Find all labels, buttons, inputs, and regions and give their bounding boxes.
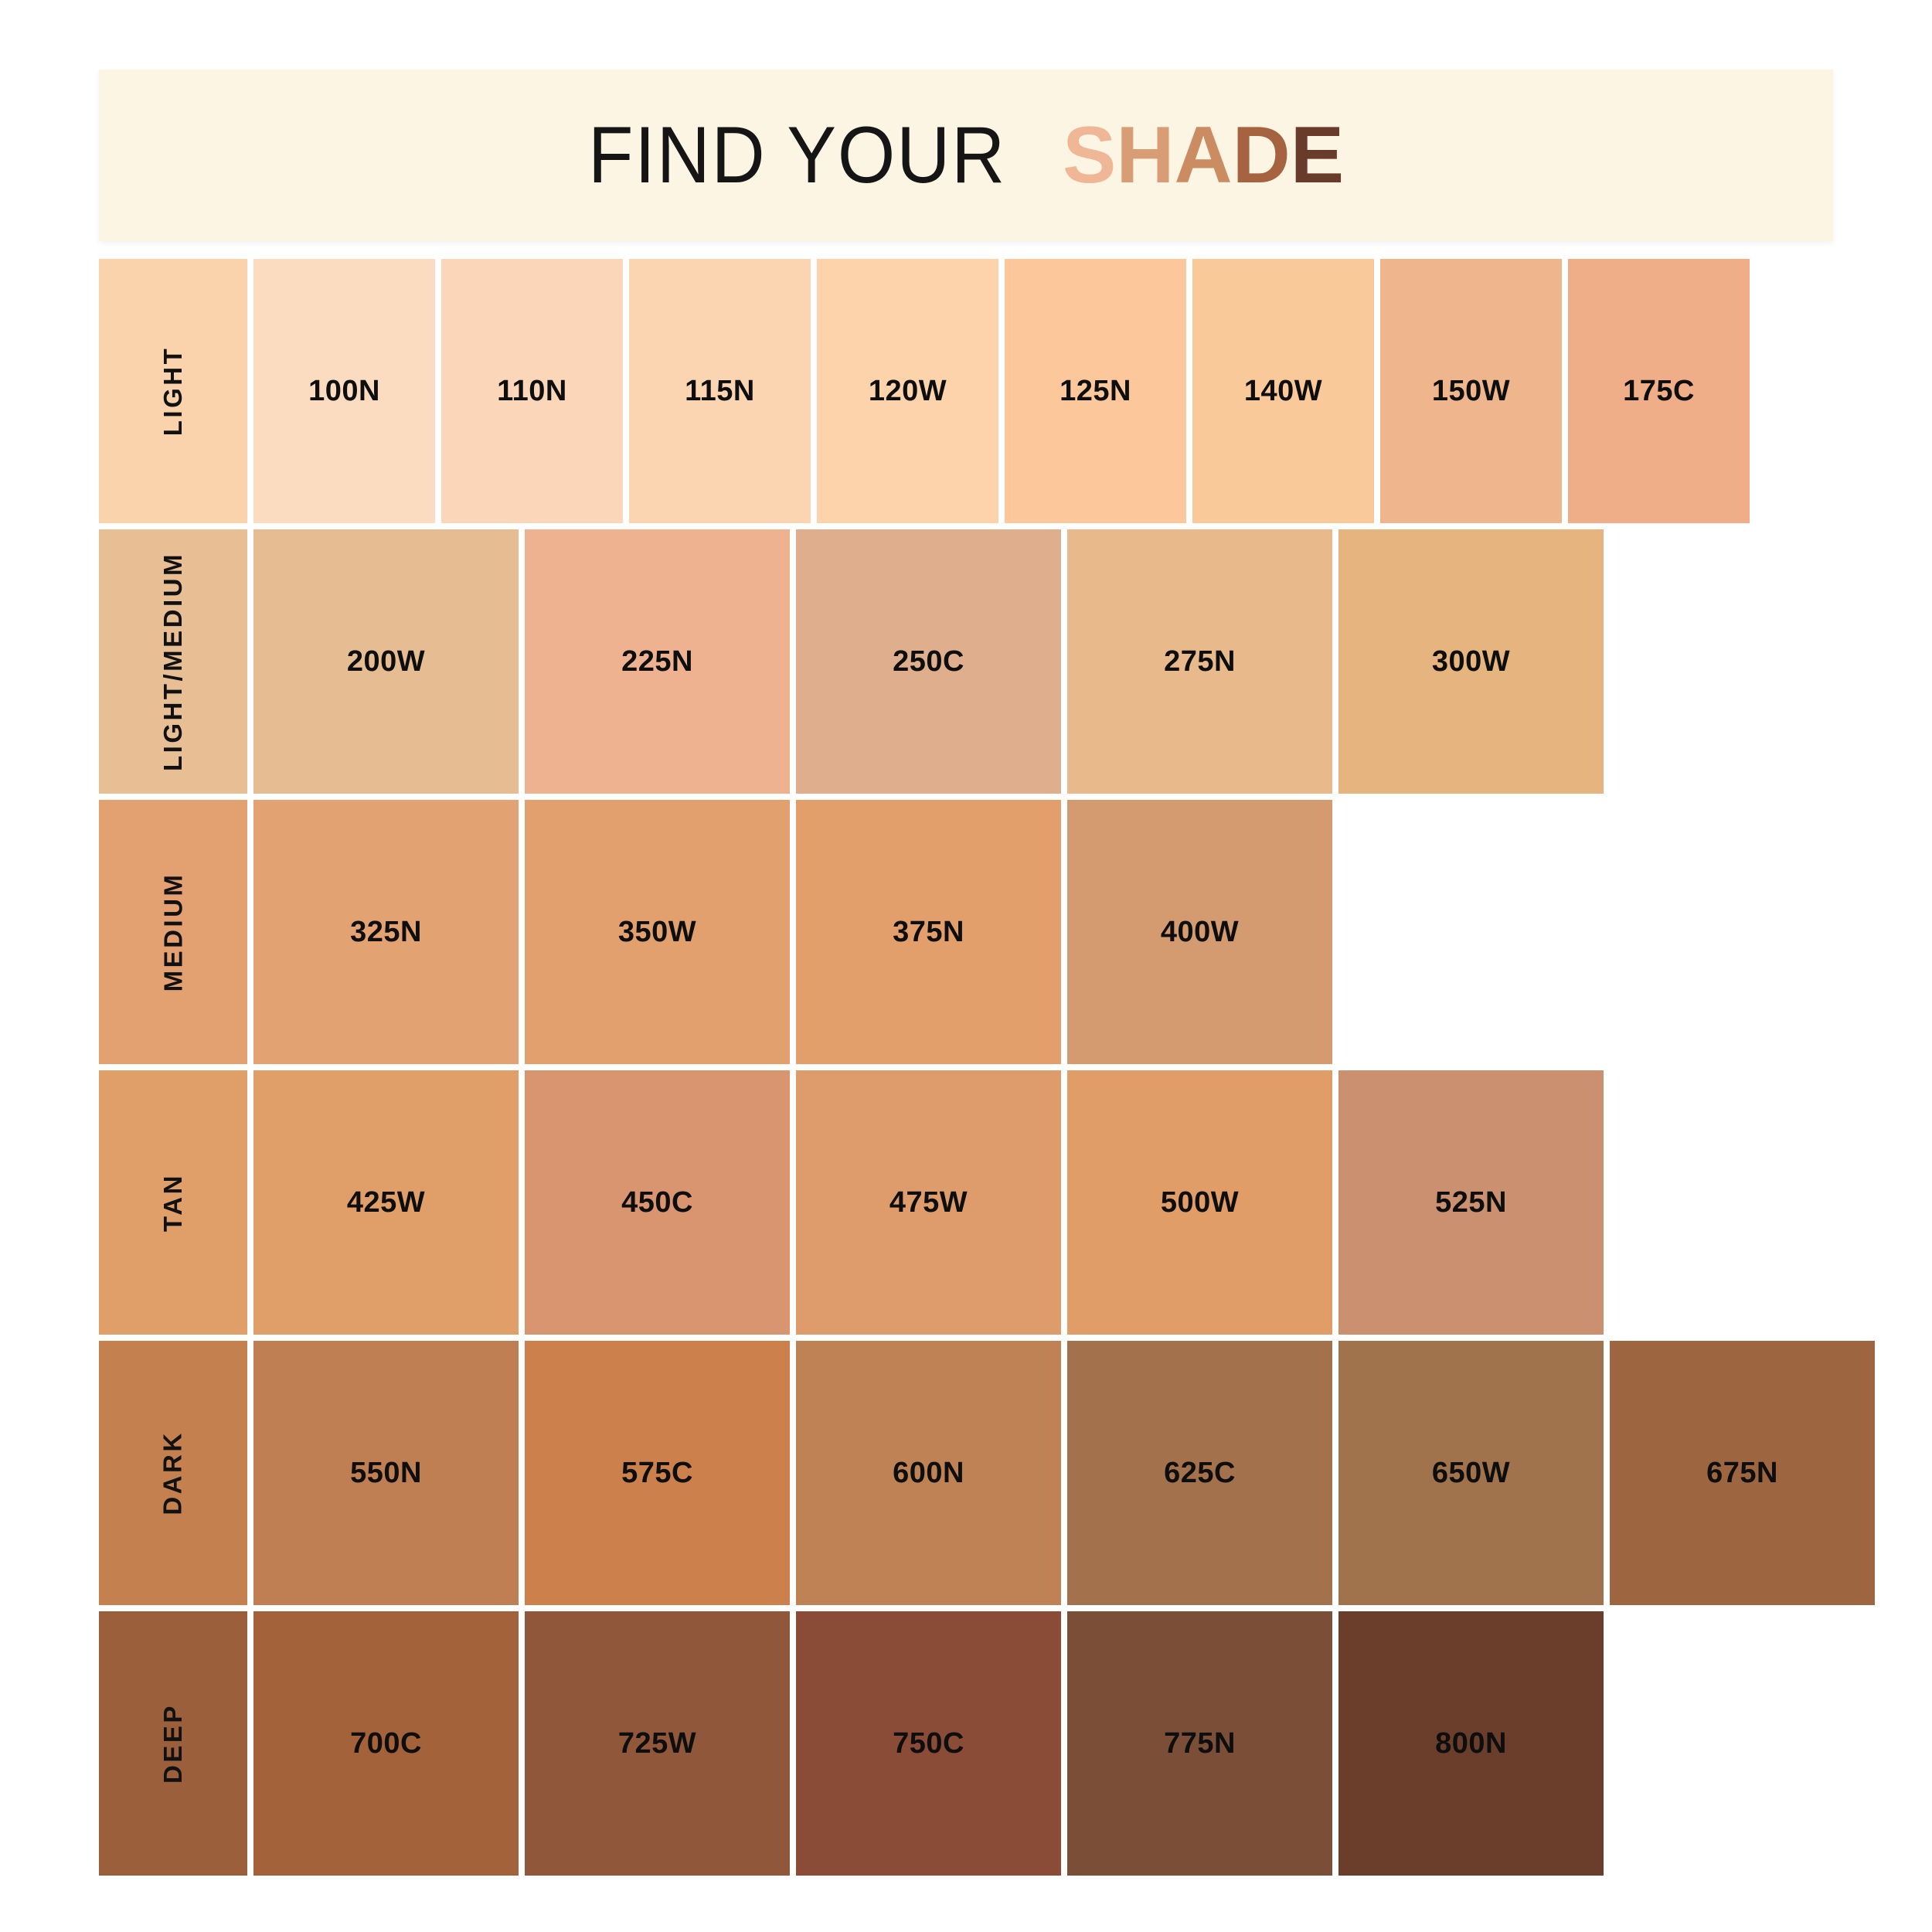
shade-code-label: 150W	[1432, 375, 1510, 408]
shade-swatch-500w[interactable]: 500W	[1067, 1070, 1332, 1335]
shade-swatch-115n[interactable]: 115N	[629, 259, 811, 523]
shade-row-deep: DEEP700C725W750C775N800N	[99, 1611, 1875, 1876]
shade-code-label: 775N	[1164, 1727, 1236, 1760]
shade-swatch-450c[interactable]: 450C	[525, 1070, 790, 1335]
shade-code-label: 700C	[350, 1727, 422, 1760]
shade-code-label: 275N	[1164, 645, 1236, 679]
shade-code-label: 300W	[1432, 645, 1510, 679]
shade-swatch-725w[interactable]: 725W	[525, 1611, 790, 1876]
title-accent-letter-e: E	[1291, 115, 1344, 196]
shade-row-light: LIGHT100N110N115N120W125N140W150W175C	[99, 259, 1875, 523]
title-accent-letter-a: A	[1175, 115, 1233, 196]
shade-swatch-175c[interactable]: 175C	[1568, 259, 1750, 523]
shade-code-label: 650W	[1432, 1457, 1510, 1490]
row-label-tan: TAN	[99, 1070, 247, 1335]
shade-code-label: 725W	[618, 1727, 696, 1760]
shade-code-label: 425W	[347, 1186, 425, 1219]
shade-code-label: 575C	[621, 1457, 693, 1490]
shade-code-label: 100N	[308, 375, 380, 408]
row-label-text: DARK	[158, 1430, 188, 1515]
row-label-medium: MEDIUM	[99, 800, 247, 1064]
title-accent-letter-d: D	[1233, 115, 1291, 196]
shade-code-label: 250C	[893, 645, 964, 679]
shade-code-label: 550N	[350, 1457, 422, 1490]
row-label-text: TAN	[158, 1173, 188, 1232]
shade-code-label: 475W	[889, 1186, 968, 1219]
shade-swatch-325n[interactable]: 325N	[253, 800, 519, 1064]
shade-code-label: 375N	[893, 916, 964, 949]
shade-code-label: 110N	[497, 375, 567, 408]
header-band: FIND YOUR SHADE	[99, 70, 1833, 241]
shade-swatch-200w[interactable]: 200W	[253, 529, 519, 794]
shade-code-label: 400W	[1161, 916, 1239, 949]
shade-swatch-525n[interactable]: 525N	[1338, 1070, 1604, 1335]
shade-code-label: 525N	[1435, 1186, 1507, 1219]
shade-code-label: 350W	[618, 916, 696, 949]
row-label-text: DEEP	[158, 1703, 188, 1784]
shade-swatch-550n[interactable]: 550N	[253, 1341, 519, 1605]
shade-swatch-475w[interactable]: 475W	[796, 1070, 1061, 1335]
shade-code-label: 175C	[1623, 375, 1695, 408]
shade-swatch-120w[interactable]: 120W	[817, 259, 998, 523]
shade-swatch-675n[interactable]: 675N	[1610, 1341, 1875, 1605]
shade-code-label: 600N	[893, 1457, 964, 1490]
shade-swatch-750c[interactable]: 750C	[796, 1611, 1061, 1876]
shade-swatch-800n[interactable]: 800N	[1338, 1611, 1604, 1876]
title-accent-letter-s: S	[1063, 115, 1116, 196]
shade-row-light-medium: LIGHT/MEDIUM200W225N250C275N300W	[99, 529, 1875, 794]
shade-code-label: 675N	[1706, 1457, 1778, 1490]
shade-chart-page: FIND YOUR SHADE LIGHT100N110N115N120W125…	[0, 0, 1932, 1932]
shade-swatch-125n[interactable]: 125N	[1005, 259, 1186, 523]
shade-swatch-375n[interactable]: 375N	[796, 800, 1061, 1064]
shade-row-medium: MEDIUM325N350W375N400W	[99, 800, 1875, 1064]
shade-swatch-625c[interactable]: 625C	[1067, 1341, 1332, 1605]
shade-row-dark: DARK550N575C600N625C650W675N	[99, 1341, 1875, 1605]
shade-code-label: 120W	[869, 375, 947, 408]
shade-code-label: 450C	[621, 1186, 693, 1219]
shade-code-label: 325N	[350, 916, 422, 949]
shade-code-label: 625C	[1164, 1457, 1236, 1490]
shade-swatch-600n[interactable]: 600N	[796, 1341, 1061, 1605]
shade-swatch-140w[interactable]: 140W	[1192, 259, 1374, 523]
title-accent-letter-h: H	[1116, 115, 1174, 196]
shade-code-label: 140W	[1244, 375, 1322, 408]
shade-swatch-300w[interactable]: 300W	[1338, 529, 1604, 794]
shade-code-label: 800N	[1435, 1727, 1507, 1760]
row-label-light-medium: LIGHT/MEDIUM	[99, 529, 247, 794]
row-label-text: MEDIUM	[158, 872, 188, 992]
shade-code-label: 500W	[1161, 1186, 1239, 1219]
shade-code-label: 225N	[621, 645, 693, 679]
row-label-light: LIGHT	[99, 259, 247, 523]
shade-code-label: 125N	[1060, 375, 1131, 408]
shade-swatch-275n[interactable]: 275N	[1067, 529, 1332, 794]
shade-swatch-775n[interactable]: 775N	[1067, 1611, 1332, 1876]
shade-swatch-425w[interactable]: 425W	[253, 1070, 519, 1335]
shade-code-label: 750C	[893, 1727, 964, 1760]
shade-swatch-100n[interactable]: 100N	[253, 259, 435, 523]
shade-swatch-400w[interactable]: 400W	[1067, 800, 1332, 1064]
page-title: FIND YOUR SHADE	[588, 115, 1344, 196]
shade-swatch-110n[interactable]: 110N	[441, 259, 623, 523]
shade-swatch-250c[interactable]: 250C	[796, 529, 1061, 794]
shade-code-label: 200W	[347, 645, 425, 679]
shade-swatch-700c[interactable]: 700C	[253, 1611, 519, 1876]
shade-swatch-150w[interactable]: 150W	[1380, 259, 1562, 523]
page-title-accent: SHADE	[1063, 115, 1344, 196]
row-label-text: LIGHT/MEDIUM	[158, 552, 188, 771]
shade-grid: LIGHT100N110N115N120W125N140W150W175CLIG…	[99, 259, 1875, 1882]
row-label-dark: DARK	[99, 1341, 247, 1605]
row-label-deep: DEEP	[99, 1611, 247, 1876]
row-label-text: LIGHT	[158, 346, 188, 436]
shade-swatch-650w[interactable]: 650W	[1338, 1341, 1604, 1605]
shade-swatch-575c[interactable]: 575C	[525, 1341, 790, 1605]
shade-swatch-350w[interactable]: 350W	[525, 800, 790, 1064]
shade-row-tan: TAN425W450C475W500W525N	[99, 1070, 1875, 1335]
shade-code-label: 115N	[685, 375, 755, 408]
page-title-plain: FIND YOUR	[588, 115, 1006, 196]
shade-swatch-225n[interactable]: 225N	[525, 529, 790, 794]
